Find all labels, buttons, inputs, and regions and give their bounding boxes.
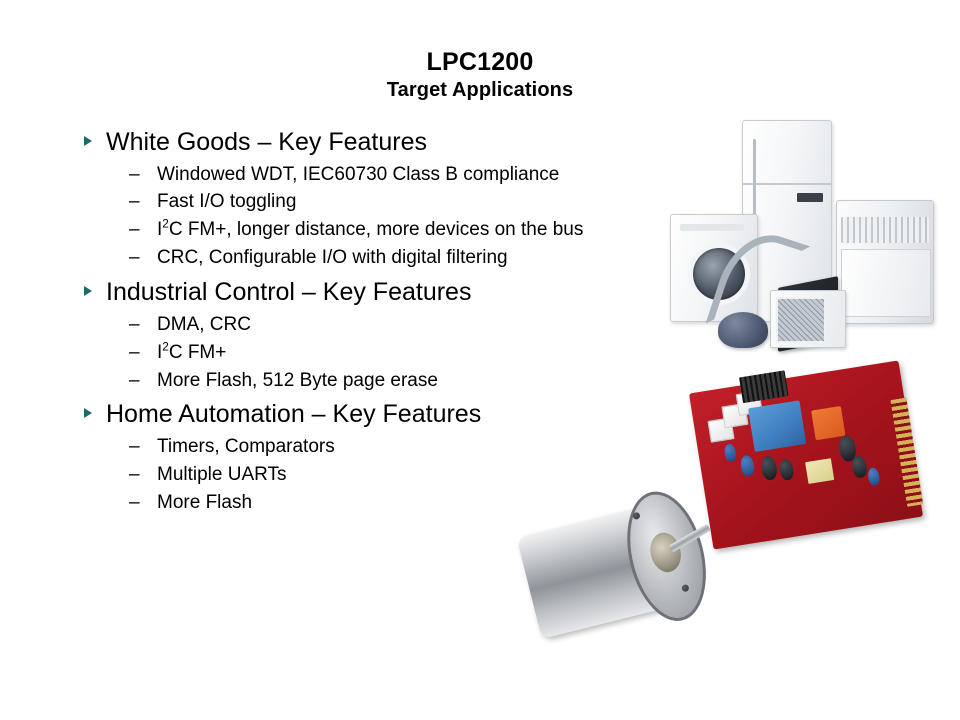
outline-level2-label: Multiple UARTs — [157, 461, 287, 489]
i2c-suffix: C FM+, longer distance, more devices on … — [169, 219, 584, 240]
outline-level2-label: Timers, Comparators — [157, 433, 335, 461]
pcb-orange-capacitor — [811, 406, 845, 440]
i2c-suffix: C FM+ — [169, 342, 227, 363]
page-subtitle: Target Applications — [0, 78, 960, 102]
dishwasher-graphic — [836, 200, 934, 324]
dash-bullet-icon: – — [129, 216, 157, 244]
outline-level2-item: – I2C FM+ — [84, 339, 674, 367]
white-goods-appliances-photo — [664, 104, 960, 360]
outline-level2-label: I2C FM+, longer distance, more devices o… — [157, 216, 583, 244]
outline-body: White Goods – Key Features – Windowed WD… — [84, 126, 674, 521]
dash-bullet-icon: – — [129, 188, 157, 216]
outline-level2-label: DMA, CRC — [157, 311, 251, 339]
dash-bullet-icon: – — [129, 311, 157, 339]
outline-level1-label: Home Automation – Key Features — [106, 398, 481, 431]
outline-level2-item: – Windowed WDT, IEC60730 Class B complia… — [84, 161, 674, 189]
pcb-yellow-transformer — [805, 458, 834, 484]
outline-level2-label: Fast I/O toggling — [157, 188, 296, 216]
outline-level1-label: White Goods – Key Features — [106, 126, 427, 159]
dash-bullet-icon: – — [129, 161, 157, 189]
dash-bullet-icon: – — [129, 489, 157, 517]
slide-canvas: LPC1200 Target Applications White Goods … — [0, 0, 960, 720]
dash-bullet-icon: – — [129, 244, 157, 272]
outline-level2-item: – I2C FM+, longer distance, more devices… — [84, 216, 674, 244]
dash-bullet-icon: – — [129, 461, 157, 489]
triangle-bullet-icon — [84, 126, 106, 146]
outline-level1-item: White Goods – Key Features — [84, 126, 674, 159]
triangle-bullet-icon — [84, 398, 106, 418]
outline-level2-label: I2C FM+ — [157, 339, 226, 367]
outline-level2-label: Windowed WDT, IEC60730 Class B complianc… — [157, 161, 559, 189]
outline-level2-group: – Windowed WDT, IEC60730 Class B complia… — [84, 161, 674, 273]
outline-level2-item: – DMA, CRC — [84, 311, 674, 339]
outline-level2-item: – Multiple UARTs — [84, 461, 674, 489]
slide-title-block: LPC1200 Target Applications — [0, 48, 960, 102]
dash-bullet-icon: – — [129, 367, 157, 395]
pcb-control-board-photo — [689, 360, 923, 549]
outline-level2-label: More Flash, 512 Byte page erase — [157, 367, 438, 395]
outline-level2-item: – Timers, Comparators — [84, 433, 674, 461]
outline-level2-item: – CRC, Configurable I/O with digital fil… — [84, 244, 674, 272]
outline-level2-item: – Fast I/O toggling — [84, 188, 674, 216]
outline-level1-label: Industrial Control – Key Features — [106, 276, 471, 309]
dash-bullet-icon: – — [129, 433, 157, 461]
outline-level1-item: Home Automation – Key Features — [84, 398, 674, 431]
outline-level2-label: CRC, Configurable I/O with digital filte… — [157, 244, 508, 272]
outline-level2-item: – More Flash, 512 Byte page erase — [84, 367, 674, 395]
vacuum-cleaner-graphic — [718, 312, 768, 348]
outline-level1-item: Industrial Control – Key Features — [84, 276, 674, 309]
dash-bullet-icon: – — [129, 339, 157, 367]
pcb-transformer — [748, 400, 806, 452]
outline-level2-label: More Flash — [157, 489, 252, 517]
outline-level2-group: – DMA, CRC – I2C FM+ – More Flash, 512 B… — [84, 311, 674, 395]
triangle-bullet-icon — [84, 276, 106, 296]
page-title: LPC1200 — [0, 48, 960, 76]
